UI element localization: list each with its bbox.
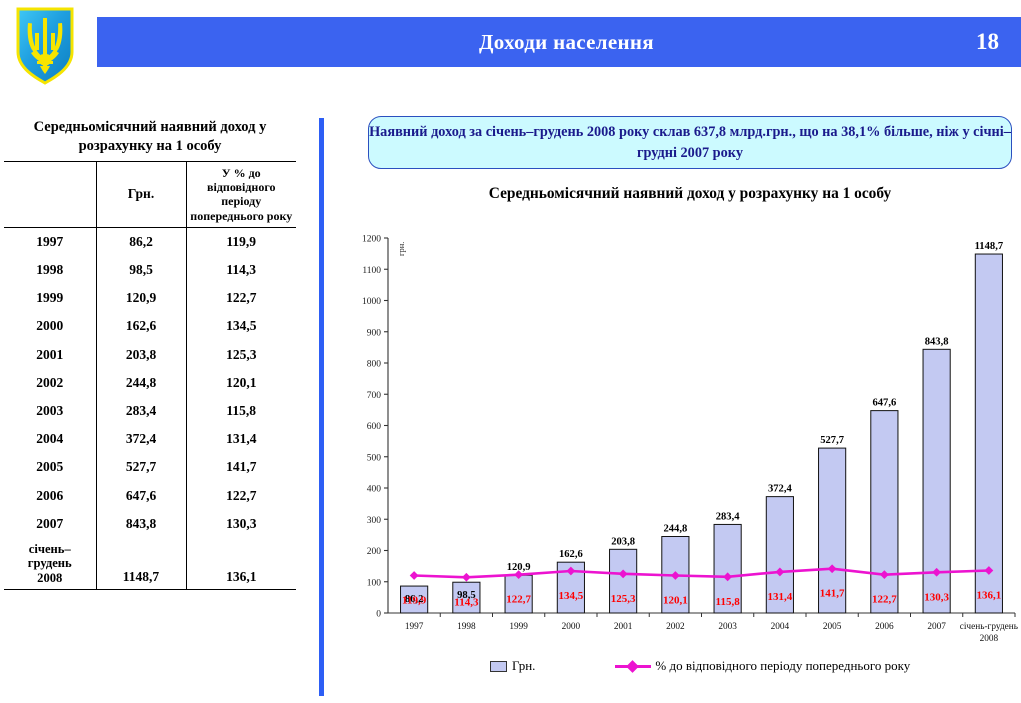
x-axis-tick-label: 1999 bbox=[509, 622, 528, 632]
x-axis-tick-label: 2006 bbox=[875, 622, 894, 632]
cell-percent: 119,9 bbox=[186, 227, 296, 256]
x-axis-tick-label: 2008 bbox=[980, 634, 999, 644]
cell-grn: 527,7 bbox=[96, 453, 186, 481]
table-body: 199786,2119,9199898,5114,31999120,9122,7… bbox=[4, 227, 296, 589]
cell-year: 2003 bbox=[4, 397, 96, 425]
table-row: 2000162,6134,5 bbox=[4, 312, 296, 340]
percent-value-label: 125,3 bbox=[611, 593, 636, 605]
x-axis-tick-label: 1997 bbox=[405, 622, 424, 632]
table-row: 2007843,8130,3 bbox=[4, 510, 296, 538]
y-axis-title: грн. bbox=[396, 242, 406, 256]
cell-percent: 130,3 bbox=[186, 510, 296, 538]
percent-value-label: 134,5 bbox=[559, 590, 584, 602]
percent-value-label: 136,1 bbox=[977, 589, 1002, 601]
cell-percent: 114,3 bbox=[186, 256, 296, 284]
callout-box: Наявний доход за січень–грудень 2008 рок… bbox=[368, 116, 1012, 169]
cell-year: 2002 bbox=[4, 369, 96, 397]
cell-grn: 98,5 bbox=[96, 256, 186, 284]
cell-grn: 120,9 bbox=[96, 284, 186, 312]
ukraine-coat-of-arms-icon bbox=[14, 6, 76, 86]
chart-title: Середньомісячний наявний доход у розраху… bbox=[368, 185, 1012, 203]
table-row: 2006647,6122,7 bbox=[4, 481, 296, 509]
income-chart: 0100200300400500600700800900100011001200… bbox=[332, 230, 1021, 675]
line-swatch-icon bbox=[615, 660, 651, 672]
cell-percent: 122,7 bbox=[186, 481, 296, 509]
cell-grn: 372,4 bbox=[96, 425, 186, 453]
x-axis-tick-label: 2007 bbox=[927, 622, 946, 632]
cell-percent: 115,8 bbox=[186, 397, 296, 425]
y-axis-tick-label: 800 bbox=[367, 360, 382, 370]
bar-value-label: 283,4 bbox=[716, 511, 741, 522]
percent-value-label: 114,3 bbox=[454, 596, 479, 608]
cell-year: січень–грудень2008 bbox=[4, 538, 96, 590]
percent-value-label: 122,7 bbox=[506, 594, 531, 606]
y-axis-tick-label: 300 bbox=[367, 516, 382, 526]
table-row: 1999120,9122,7 bbox=[4, 284, 296, 312]
y-axis-tick-label: 0 bbox=[376, 610, 381, 620]
table-row: січень–грудень20081148,7136,1 bbox=[4, 538, 296, 590]
percent-value-label: 141,7 bbox=[820, 588, 845, 600]
bar-value-label: 203,8 bbox=[611, 536, 635, 547]
y-axis-tick-label: 1200 bbox=[362, 235, 381, 245]
x-axis-tick-label: січень-грудень bbox=[960, 622, 1018, 632]
cell-percent: 136,1 bbox=[186, 538, 296, 590]
bar-value-label: 843,8 bbox=[925, 336, 949, 347]
percent-value-label: 120,1 bbox=[663, 594, 688, 606]
page-number: 18 bbox=[976, 29, 1021, 55]
bar-value-label: 527,7 bbox=[820, 435, 845, 446]
cell-grn: 1148,7 bbox=[96, 538, 186, 590]
legend-item-percent: % до відповідного періоду попереднього р… bbox=[615, 658, 910, 674]
y-axis-tick-label: 400 bbox=[367, 485, 382, 495]
y-axis-tick-label: 900 bbox=[367, 328, 382, 338]
cell-grn: 843,8 bbox=[96, 510, 186, 538]
table-row: 2002244,8120,1 bbox=[4, 369, 296, 397]
cell-grn: 203,8 bbox=[96, 340, 186, 368]
cell-percent: 134,5 bbox=[186, 312, 296, 340]
table-caption: Середньомісячний наявний доход у розраху… bbox=[0, 118, 300, 161]
chart-bar bbox=[871, 411, 898, 613]
page-title: Доходи населення bbox=[97, 30, 976, 55]
bar-swatch-icon bbox=[490, 661, 507, 672]
cell-grn: 244,8 bbox=[96, 369, 186, 397]
chart-canvas: 0100200300400500600700800900100011001200… bbox=[332, 230, 1021, 675]
bar-value-label: 162,6 bbox=[559, 549, 583, 560]
chart-legend: Грн. % до відповідного періоду попереднь… bbox=[368, 658, 988, 674]
bar-value-label: 372,4 bbox=[768, 484, 793, 495]
cell-grn: 647,6 bbox=[96, 481, 186, 509]
x-axis-tick-label: 2003 bbox=[718, 622, 737, 632]
cell-year: 2007 bbox=[4, 510, 96, 538]
x-axis-tick-label: 2002 bbox=[666, 622, 685, 632]
y-axis-tick-label: 600 bbox=[367, 422, 382, 432]
percent-value-label: 131,4 bbox=[768, 591, 793, 603]
cell-year: 1999 bbox=[4, 284, 96, 312]
cell-grn: 86,2 bbox=[96, 227, 186, 256]
percent-value-label: 115,8 bbox=[716, 596, 741, 608]
legend-label-percent: % до відповідного періоду попереднього р… bbox=[655, 658, 910, 674]
bar-value-label: 1148,7 bbox=[975, 241, 1004, 252]
cell-grn: 283,4 bbox=[96, 397, 186, 425]
header-bar: Доходи населення 18 bbox=[97, 17, 1021, 67]
column-header-percent: У % до відповідного періоду попереднього… bbox=[186, 162, 296, 228]
cell-percent: 120,1 bbox=[186, 369, 296, 397]
y-axis-tick-label: 1100 bbox=[362, 266, 381, 276]
percent-value-label: 119,9 bbox=[402, 595, 427, 607]
table-header-row: Грн. У % до відповідного періоду поперед… bbox=[4, 162, 296, 228]
percent-marker bbox=[410, 571, 419, 580]
percent-line bbox=[414, 569, 989, 578]
cell-year: 2004 bbox=[4, 425, 96, 453]
y-axis-tick-label: 500 bbox=[367, 453, 382, 463]
y-axis-tick-label: 700 bbox=[367, 391, 382, 401]
cell-percent: 131,4 bbox=[186, 425, 296, 453]
cell-percent: 141,7 bbox=[186, 453, 296, 481]
x-axis-tick-label: 2000 bbox=[562, 622, 581, 632]
cell-year: 1998 bbox=[4, 256, 96, 284]
column-header-grn: Грн. bbox=[96, 162, 186, 228]
table-row: 2005527,7141,7 bbox=[4, 453, 296, 481]
bar-value-label: 647,6 bbox=[872, 398, 896, 409]
chart-bar bbox=[975, 254, 1002, 613]
table-row: 199786,2119,9 bbox=[4, 227, 296, 256]
y-axis-tick-label: 100 bbox=[367, 578, 382, 588]
x-axis-tick-label: 2001 bbox=[614, 622, 633, 632]
cell-year: 2000 bbox=[4, 312, 96, 340]
income-table: Грн. У % до відповідного періоду поперед… bbox=[4, 161, 296, 590]
cell-grn: 162,6 bbox=[96, 312, 186, 340]
percent-marker bbox=[462, 573, 471, 582]
cell-percent: 125,3 bbox=[186, 340, 296, 368]
cell-percent: 122,7 bbox=[186, 284, 296, 312]
legend-label-grn: Грн. bbox=[512, 658, 535, 674]
table-row: 2001203,8125,3 bbox=[4, 340, 296, 368]
table-row: 2004372,4131,4 bbox=[4, 425, 296, 453]
left-panel: Середньомісячний наявний доход у розраху… bbox=[0, 118, 300, 590]
legend-item-grn: Грн. bbox=[490, 658, 535, 674]
bar-value-label: 244,8 bbox=[663, 524, 687, 535]
x-axis-tick-label: 1998 bbox=[457, 622, 476, 632]
column-header-year bbox=[4, 162, 96, 228]
percent-value-label: 122,7 bbox=[872, 594, 897, 606]
percent-value-label: 130,3 bbox=[924, 591, 949, 603]
y-axis-tick-label: 1000 bbox=[362, 297, 381, 307]
y-axis-tick-label: 200 bbox=[367, 547, 382, 557]
cell-year: 1997 bbox=[4, 227, 96, 256]
cell-year: 2001 bbox=[4, 340, 96, 368]
x-axis-tick-label: 2004 bbox=[771, 622, 790, 632]
callout-text: Наявний доход за січень–грудень 2008 рок… bbox=[369, 122, 1011, 163]
panel-divider bbox=[319, 118, 324, 696]
x-axis-tick-label: 2005 bbox=[823, 622, 842, 632]
cell-year: 2005 bbox=[4, 453, 96, 481]
cell-year: 2006 bbox=[4, 481, 96, 509]
table-row: 199898,5114,3 bbox=[4, 256, 296, 284]
table-row: 2003283,4115,8 bbox=[4, 397, 296, 425]
